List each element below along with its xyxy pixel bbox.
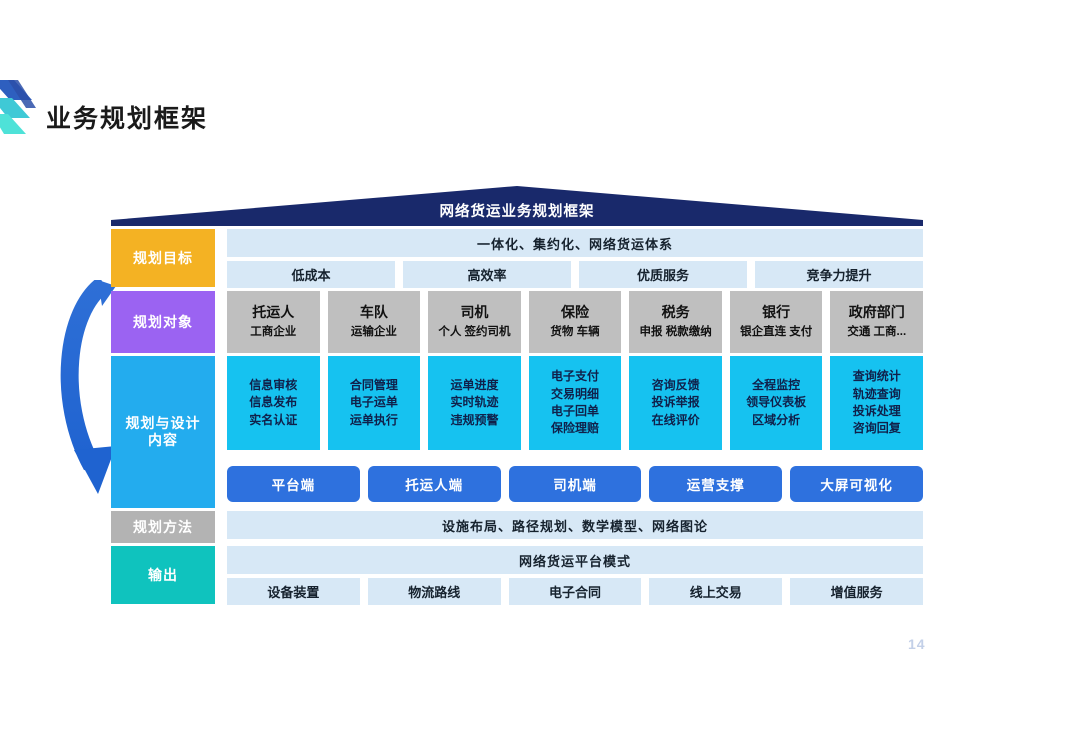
- object-card-sub: 工商企业: [250, 326, 296, 340]
- feature-line: 实时轨迹: [450, 394, 498, 411]
- feature-line: 电子回单: [551, 403, 599, 420]
- output-items: 设备装置 物流路线 电子合同 线上交易 增值服务: [227, 578, 923, 605]
- object-card[interactable]: 银行 银企直连 支付: [730, 291, 823, 353]
- client-button[interactable]: 大屏可视化: [790, 466, 923, 502]
- design-feature-box[interactable]: 咨询反馈 投诉举报 在线评价: [629, 356, 722, 450]
- method-banner: 设施布局、路径规划、数学模型、网络图论: [227, 511, 923, 539]
- roof-title: 网络货运业务规划框架: [111, 200, 923, 221]
- object-card[interactable]: 政府部门 交通 工商...: [830, 291, 923, 353]
- goal-items: 低成本 高效率 优质服务 竞争力提升: [227, 261, 923, 288]
- design-feature-box[interactable]: 信息审核 信息发布 实名认证: [227, 356, 320, 450]
- feature-line: 电子支付: [551, 368, 599, 385]
- client-button[interactable]: 司机端: [509, 466, 642, 502]
- object-card[interactable]: 司机 个人 签约司机: [428, 291, 521, 353]
- client-button[interactable]: 平台端: [227, 466, 360, 502]
- row-body-planning-design-content: 信息审核 信息发布 实名认证 合同管理 电子运单 运单执行 运单进度 实时轨迹 …: [227, 356, 923, 508]
- slide-canvas: 业务规划框架 网络货运业务规划框架 规划目标: [0, 0, 1065, 753]
- object-card-sub: 个人 签约司机: [438, 326, 510, 340]
- goal-item[interactable]: 优质服务: [579, 261, 747, 288]
- output-item[interactable]: 线上交易: [649, 578, 782, 605]
- design-feature-boxes: 信息审核 信息发布 实名认证 合同管理 电子运单 运单执行 运单进度 实时轨迹 …: [227, 356, 923, 450]
- object-card-title: 托运人: [252, 304, 294, 322]
- client-button[interactable]: 运营支撑: [649, 466, 782, 502]
- feature-line: 运单执行: [350, 412, 398, 429]
- object-card[interactable]: 托运人 工商企业: [227, 291, 320, 353]
- object-card-title: 政府部门: [849, 304, 905, 322]
- object-card-sub: 交通 工商...: [847, 326, 906, 340]
- design-feature-box[interactable]: 全程监控 领导仪表板 区域分析: [730, 356, 823, 450]
- design-feature-box[interactable]: 运单进度 实时轨迹 违规预警: [428, 356, 521, 450]
- row-label-line2: 内容: [148, 432, 178, 448]
- object-card[interactable]: 税务 申报 税款缴纳: [629, 291, 722, 353]
- row-body-output: 网络货运平台模式 设备装置 物流路线 电子合同 线上交易 增值服务: [227, 546, 923, 605]
- client-button[interactable]: 托运人端: [368, 466, 501, 502]
- object-card-title: 车队: [360, 304, 388, 322]
- row-body-planning-goal: 一体化、集约化、网络货运体系 低成本 高效率 优质服务 竞争力提升: [227, 229, 923, 288]
- row-planning-goal: 规划目标 一体化、集约化、网络货运体系 低成本 高效率 优质服务 竞争力提升: [111, 229, 923, 288]
- row-planning-design-content: 规划与设计 内容 信息审核 信息发布 实名认证 合同管理 电子运单 运单执行: [111, 356, 923, 508]
- design-feature-box[interactable]: 合同管理 电子运单 运单执行: [328, 356, 421, 450]
- object-card-title: 保险: [561, 304, 589, 322]
- feature-line: 全程监控: [752, 377, 800, 394]
- feature-line: 保险理赔: [551, 420, 599, 437]
- feature-line: 咨询反馈: [652, 377, 700, 394]
- object-card-title: 税务: [662, 304, 690, 322]
- row-label-output: 输出: [111, 546, 215, 604]
- feature-line: 违规预警: [450, 412, 498, 429]
- feature-line: 电子运单: [350, 394, 398, 411]
- goal-item[interactable]: 竞争力提升: [755, 261, 923, 288]
- row-planning-object: 规划对象 托运人 工商企业 车队 运输企业 司机 个人 签约司机: [111, 291, 923, 353]
- output-item[interactable]: 电子合同: [509, 578, 642, 605]
- feature-line: 运单进度: [450, 377, 498, 394]
- feature-line: 在线评价: [652, 412, 700, 429]
- feature-line: 轨迹查询: [853, 386, 901, 403]
- output-item[interactable]: 物流路线: [368, 578, 501, 605]
- row-body-planning-object: 托运人 工商企业 车队 运输企业 司机 个人 签约司机 保险 货物 车辆: [227, 291, 923, 353]
- feature-line: 投诉举报: [652, 394, 700, 411]
- page-number: 14: [908, 636, 926, 652]
- feature-line: 信息审核: [249, 377, 297, 394]
- row-label-planning-design-content: 规划与设计 内容: [111, 356, 215, 508]
- row-label-planning-goal: 规划目标: [111, 229, 215, 287]
- feature-line: 咨询回复: [853, 420, 901, 437]
- feature-line: 区域分析: [752, 412, 800, 429]
- goal-banner: 一体化、集约化、网络货运体系: [227, 229, 923, 257]
- row-label-line1: 规划与设计: [126, 415, 201, 431]
- feature-line: 查询统计: [853, 368, 901, 385]
- row-label-planning-object: 规划对象: [111, 291, 215, 353]
- design-client-buttons: 平台端 托运人端 司机端 运营支撑 大屏可视化: [227, 466, 923, 502]
- goal-item[interactable]: 低成本: [227, 261, 395, 288]
- design-feature-box[interactable]: 电子支付 交易明细 电子回单 保险理赔: [529, 356, 622, 450]
- feature-line: 交易明细: [551, 386, 599, 403]
- row-body-planning-method: 设施布局、路径规划、数学模型、网络图论: [227, 511, 923, 543]
- feature-line: 实名认证: [249, 412, 297, 429]
- feature-line: 合同管理: [350, 377, 398, 394]
- object-card[interactable]: 车队 运输企业: [328, 291, 421, 353]
- object-items: 托运人 工商企业 车队 运输企业 司机 个人 签约司机 保险 货物 车辆: [227, 291, 923, 353]
- object-card-title: 司机: [460, 304, 488, 322]
- feature-line: 信息发布: [249, 394, 297, 411]
- diagram-roof: 网络货运业务规划框架: [111, 186, 923, 226]
- design-feature-box[interactable]: 查询统计 轨迹查询 投诉处理 咨询回复: [830, 356, 923, 450]
- object-card[interactable]: 保险 货物 车辆: [529, 291, 622, 353]
- row-output: 输出 网络货运平台模式 设备装置 物流路线 电子合同 线上交易 增值服务: [111, 546, 923, 605]
- row-label-planning-method: 规划方法: [111, 511, 215, 543]
- object-card-sub: 运输企业: [351, 326, 397, 340]
- row-planning-method: 规划方法 设施布局、路径规划、数学模型、网络图论: [111, 511, 923, 543]
- object-card-sub: 银企直连 支付: [740, 326, 812, 340]
- feature-line: 领导仪表板: [746, 394, 806, 411]
- object-card-sub: 货物 车辆: [550, 326, 599, 340]
- chevron-layers-logo-icon: [0, 78, 38, 140]
- output-banner: 网络货运平台模式: [227, 546, 923, 574]
- business-planning-framework-diagram: 网络货运业务规划框架 规划目标 一体化、集约化、网络货运体系 低成本 高效率 优…: [111, 186, 923, 626]
- output-item[interactable]: 设备装置: [227, 578, 360, 605]
- output-item[interactable]: 增值服务: [790, 578, 923, 605]
- feature-line: 投诉处理: [853, 403, 901, 420]
- object-card-sub: 申报 税款缴纳: [640, 326, 712, 340]
- object-card-title: 银行: [762, 304, 790, 322]
- goal-item[interactable]: 高效率: [403, 261, 571, 288]
- page-title: 业务规划框架: [46, 99, 208, 135]
